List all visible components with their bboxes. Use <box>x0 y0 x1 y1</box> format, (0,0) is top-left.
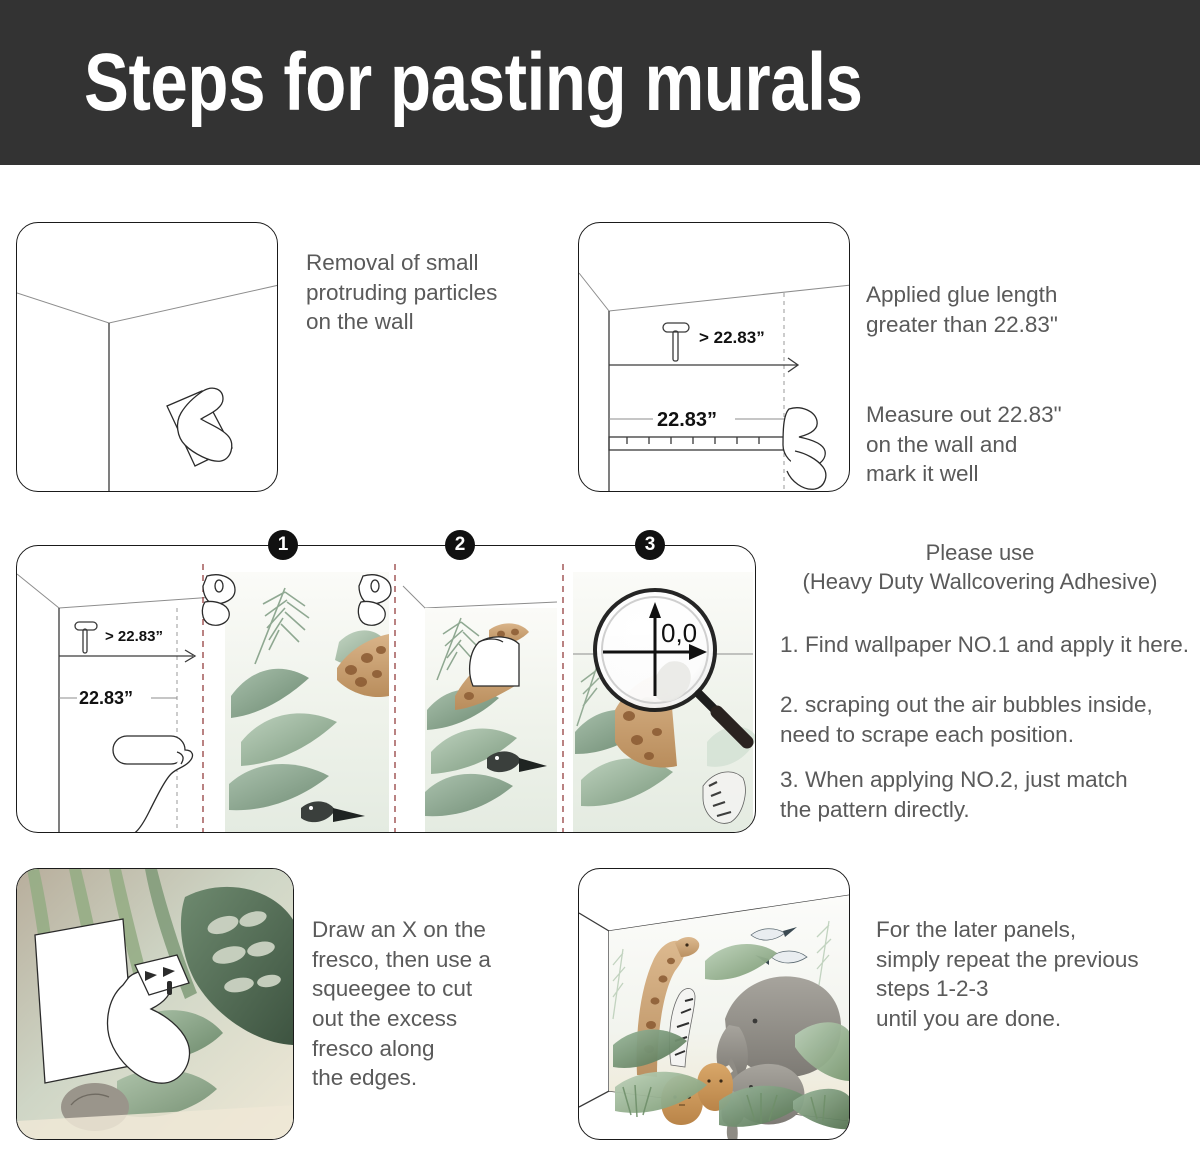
ruler-icon <box>609 437 787 450</box>
adhesive-note-line2: (Heavy Duty Wallcovering Adhesive) <box>770 567 1190 596</box>
hand-shape <box>783 408 826 490</box>
panel-finished-mural <box>578 868 850 1140</box>
squeegee-trim-illustration <box>17 869 294 1140</box>
mural-strip-3: 0,0 <box>573 572 756 833</box>
svg-text:22.83”: 22.83” <box>657 409 717 431</box>
caption-repeat-steps: For the later panels, simply repeat the … <box>876 915 1200 1034</box>
page-title: Steps for pasting murals <box>84 36 863 130</box>
origin-label: 0,0 <box>661 618 697 648</box>
caption-measure-wall: Measure out 22.83" on the wall and mark … <box>866 400 1186 489</box>
adhesive-note: Please use (Heavy Duty Wallcovering Adhe… <box>770 538 1190 597</box>
panel-glue-and-measure: > 22.83” 22.83” 22.83” <box>578 222 850 492</box>
instruction-2: 2. scraping out the air bubbles inside, … <box>780 690 1180 749</box>
caption-remove-particles: Removal of small protruding particles on… <box>306 248 566 337</box>
adhesive-note-line1: Please use <box>770 538 1190 567</box>
step-badge-1: 1 <box>268 530 298 560</box>
caption-trim-excess: Draw an X on the fresco, then use a sque… <box>312 915 562 1093</box>
panel-remove-particles <box>16 222 278 492</box>
roller-icon-small <box>75 622 97 653</box>
panel-apply-panels: > 22.83” 22.83” <box>16 545 756 833</box>
roller-icon <box>663 323 689 361</box>
hand-shape <box>470 637 519 686</box>
instruction-1: 1. Find wallpaper NO.1 and apply it here… <box>780 630 1200 660</box>
panel-trim-excess <box>16 868 294 1140</box>
header-band: Steps for pasting murals <box>0 0 1200 165</box>
caption-glue-length: Applied glue length greater than 22.83" <box>866 280 1166 339</box>
step-badge-2: 2 <box>445 530 475 560</box>
mural-strip-2 <box>403 586 557 833</box>
wall-mark-label-small: 22.83” <box>79 688 133 708</box>
step-badge-3: 3 <box>635 530 665 560</box>
paint-roller-icon <box>113 736 192 833</box>
glue-length-label-small: > 22.83” <box>105 628 163 645</box>
mural-strip-1 <box>202 572 391 833</box>
wall-measure-illustration: > 22.83” 22.83” 22.83” <box>579 223 850 492</box>
instruction-3: 3. When applying NO.2, just match the pa… <box>780 765 1170 824</box>
mural-application-illustration: > 22.83” 22.83” <box>17 546 756 833</box>
finished-mural-illustration <box>579 869 850 1140</box>
room-corner-illustration <box>17 223 278 492</box>
glue-length-label: > 22.83” <box>699 328 765 347</box>
